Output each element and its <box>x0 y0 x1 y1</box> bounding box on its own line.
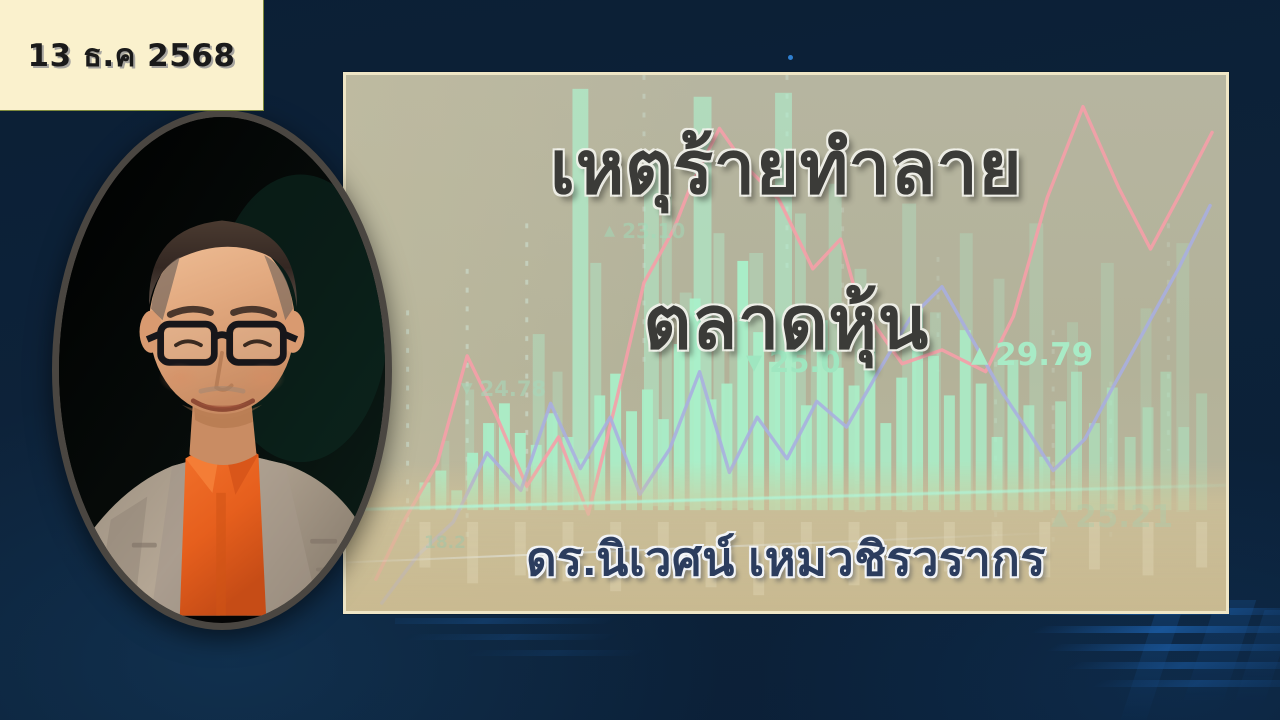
ticker-annotation-2979: ▲ 29.79 <box>971 337 1093 373</box>
ticker-annotation-250: ▼ 25.0 <box>746 345 841 379</box>
ticker-annotation-182: 18.2 <box>424 533 466 553</box>
triangle-up-icon: ▲ <box>604 224 615 238</box>
chart-panel: ▲ 23.10 ▼ 24.78 ▼ 25.0 ▲ 29.79 ▲ 25.21 1… <box>343 72 1229 614</box>
ticker-value: 24.78 <box>480 377 546 401</box>
blue-dot-icon <box>788 55 793 60</box>
date-text: 13 ธ.ค 2568 <box>28 30 236 80</box>
ticker-annotation-2478: ▼ 24.78 <box>461 377 546 401</box>
triangle-down-icon: ▼ <box>746 352 762 373</box>
ticker-annotation-2521: ▲ 25.21 <box>1051 499 1173 535</box>
light-streaks-left <box>395 612 725 672</box>
ticker-value: 29.79 <box>995 337 1093 373</box>
portrait-avatar <box>52 110 392 630</box>
ticker-value: 18.2 <box>424 533 466 553</box>
date-badge: 13 ธ.ค 2568 <box>0 0 264 111</box>
ticker-annotation-hidden: ▲ 23.10 <box>604 219 685 243</box>
portrait-illustration <box>59 117 385 616</box>
triangle-up-icon: ▲ <box>971 344 988 366</box>
triangle-down-icon: ▼ <box>461 381 473 396</box>
ticker-value: 25.0 <box>769 345 841 379</box>
triangle-up-icon: ▲ <box>1051 506 1068 528</box>
light-streaks-right <box>780 600 1280 720</box>
ticker-value: 25.21 <box>1075 499 1173 535</box>
ticker-value: 23.10 <box>622 219 685 243</box>
